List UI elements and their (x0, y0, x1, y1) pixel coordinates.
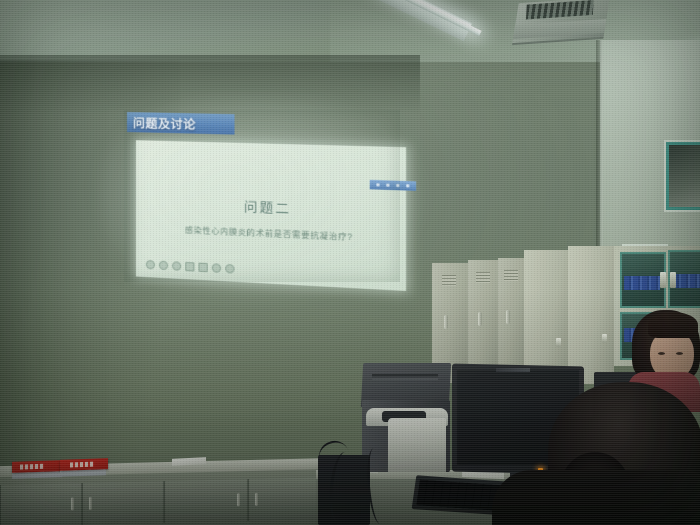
pointer-icon[interactable] (146, 260, 155, 270)
tall-cabinet-2-lock (602, 334, 607, 343)
slide-banner-title: 问题及讨论 (127, 112, 235, 135)
locker-3-handle (506, 310, 510, 324)
counter-door-3[interactable] (164, 479, 248, 523)
bookshelf-binders-right (672, 274, 700, 288)
presenter-toolbar[interactable] (146, 260, 235, 274)
printer-front-cover (388, 418, 446, 472)
counter-knob-3[interactable] (237, 493, 240, 506)
slide-canvas: 问题二 感染性心内膜炎的术前是否需要抗凝治疗? (136, 140, 406, 291)
red-booklet-2 (60, 458, 108, 471)
seated-person-right-fringe (648, 312, 698, 338)
locker-1-vent (442, 275, 456, 286)
seated-person-eye-left (658, 352, 665, 355)
counter-door-1[interactable] (0, 483, 82, 525)
window-dot-2 (386, 184, 389, 187)
counter-knob-4[interactable] (255, 493, 258, 506)
bookshelf-handle-1 (660, 272, 666, 288)
red-booklet-1 (12, 460, 62, 473)
locker-3 (498, 258, 525, 382)
booklet-1-label (20, 464, 44, 470)
monitor-brand-logo (496, 368, 530, 372)
window-dot-3 (396, 184, 399, 187)
tall-cabinet-2 (568, 246, 614, 384)
bookshelf-binders-left (624, 276, 660, 290)
booklet-2-label (70, 462, 94, 468)
slide-title: 问题二 (136, 192, 406, 222)
classroom-photo: 问题二 感染性心内膜炎的术前是否需要抗凝治疗? 问题及讨论 (0, 0, 700, 525)
highlighter-icon[interactable] (172, 261, 181, 271)
display-icon[interactable] (199, 263, 208, 273)
window-dot-4 (406, 184, 409, 187)
seated-person-eye-right (676, 352, 683, 355)
window-upper (666, 142, 700, 210)
vent-louvers (526, 0, 594, 19)
counter-knob-2[interactable] (89, 497, 92, 510)
slide-window-controls[interactable] (370, 180, 416, 191)
projected-slide: 问题二 感染性心内膜炎的术前是否需要抗凝治疗? 问题及讨论 (127, 112, 409, 292)
foreground-person-shoulder (492, 470, 700, 525)
ac-ceiling-vent (512, 0, 610, 45)
counter-door-2[interactable] (82, 481, 164, 525)
pen-icon[interactable] (159, 261, 168, 271)
locker-2-handle (478, 312, 482, 326)
printer-output-slot (372, 374, 438, 380)
slide-subtitle: 感染性心内膜炎的术前是否需要抗凝治疗? (136, 222, 406, 245)
window-dot-1 (376, 183, 379, 186)
locker-2-vent (476, 272, 490, 283)
slide-grid-icon[interactable] (185, 262, 194, 272)
locker-1-handle (444, 315, 448, 329)
vent-lip (513, 19, 606, 39)
bookshelf-handle-2 (670, 272, 676, 288)
locker-3-vent (504, 270, 518, 281)
end-show-icon[interactable] (225, 264, 234, 274)
more-options-icon[interactable] (212, 263, 221, 273)
counter-knob-1[interactable] (71, 497, 74, 510)
tall-cabinet-1-lock (556, 338, 561, 347)
